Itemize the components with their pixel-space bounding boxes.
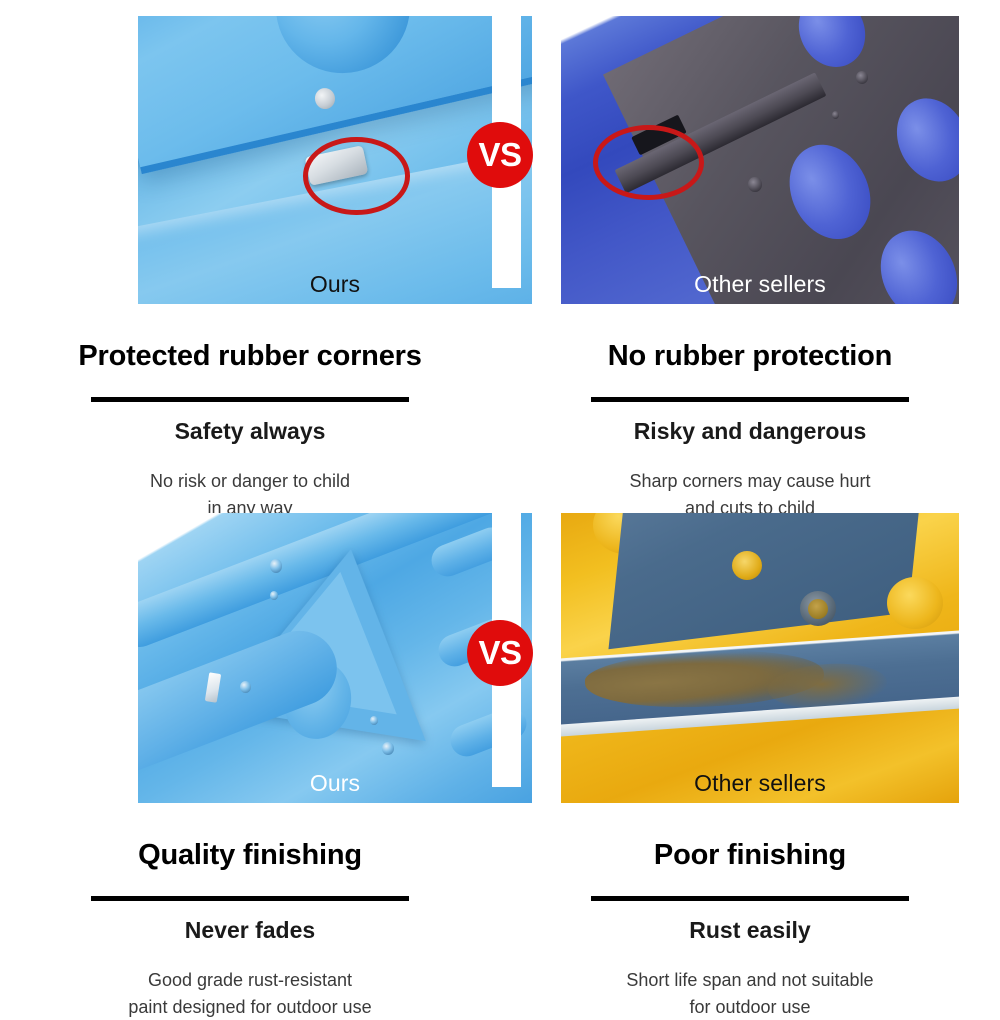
comparison-block-corners: Ours Other sellers <box>0 0 1000 497</box>
body-line: No risk or danger to child <box>0 468 500 494</box>
headline-ours-finish: Quality finishing <box>0 839 500 872</box>
product-photo-other-finish: Other sellers <box>561 513 959 803</box>
headline-ours-corner: Protected rubber corners <box>0 340 500 373</box>
headline-other-finish: Poor finishing <box>500 839 1000 872</box>
bolt-head-shape <box>748 177 762 191</box>
highlight-ellipse-icon <box>303 137 409 215</box>
headline-other-corner: No rubber protection <box>500 340 1000 373</box>
text-column-other-corner: No rubber protection Risky and dangerous… <box>500 288 1000 497</box>
body-ours-finish: Good grade rust-resistant paint designed… <box>0 967 500 1019</box>
headline-divider <box>91 397 409 402</box>
body-line: Good grade rust-resistant <box>0 967 500 993</box>
seat-recess-shape <box>887 577 943 629</box>
screw-head-shape <box>382 742 394 755</box>
screw-head-shape <box>270 559 282 572</box>
headline-divider <box>591 397 909 402</box>
photo-caption-other-finish: Other sellers <box>561 770 959 797</box>
comparison-block-finishing: Ours Other sellers <box>0 497 1000 1000</box>
bolt-head-shape <box>856 71 869 84</box>
metal-bracket-shape <box>608 513 928 649</box>
text-column-ours-corner: Protected rubber corners Safety always N… <box>0 288 500 497</box>
body-line: Sharp corners may cause hurt <box>500 468 1000 494</box>
text-row-finishing: Quality finishing Never fades Good grade… <box>0 787 1000 1000</box>
photo-caption-ours-corner: Ours <box>138 271 532 298</box>
bracket-hole-shape <box>732 551 762 580</box>
headline-divider <box>591 896 909 901</box>
body-line: Short life span and not suitable <box>500 967 1000 993</box>
photo-other-finish-artwork <box>561 513 959 803</box>
photo-row-corners: Ours Other sellers <box>0 0 1000 288</box>
highlight-ellipse-icon <box>593 125 704 200</box>
vs-badge-corners: VS <box>467 122 533 188</box>
subhead-ours-corner: Safety always <box>0 418 500 445</box>
photo-row-finishing: Ours Other sellers <box>0 497 1000 787</box>
photo-caption-other-corner: Other sellers <box>561 271 959 298</box>
bolt-center-shape <box>808 599 828 619</box>
text-row-corners: Protected rubber corners Safety always N… <box>0 288 1000 497</box>
text-column-other-finish: Poor finishing Rust easily Short life sp… <box>500 787 1000 1000</box>
vs-badge-finishing: VS <box>467 620 533 686</box>
comparison-infographic: Ours Other sellers <box>0 0 1000 1000</box>
headline-divider <box>91 896 409 901</box>
subhead-other-finish: Rust easily <box>500 917 1000 944</box>
product-photo-other-corner: Other sellers <box>561 16 959 304</box>
subhead-ours-finish: Never fades <box>0 917 500 944</box>
photo-caption-ours-finish: Ours <box>138 770 532 797</box>
subhead-other-corner: Risky and dangerous <box>500 418 1000 445</box>
text-column-ours-finish: Quality finishing Never fades Good grade… <box>0 787 500 1000</box>
body-line: for outdoor use <box>500 994 1000 1020</box>
body-line: paint designed for outdoor use <box>0 994 500 1020</box>
screw-head-shape <box>270 591 278 600</box>
body-other-finish: Short life span and not suitable for out… <box>500 967 1000 1019</box>
